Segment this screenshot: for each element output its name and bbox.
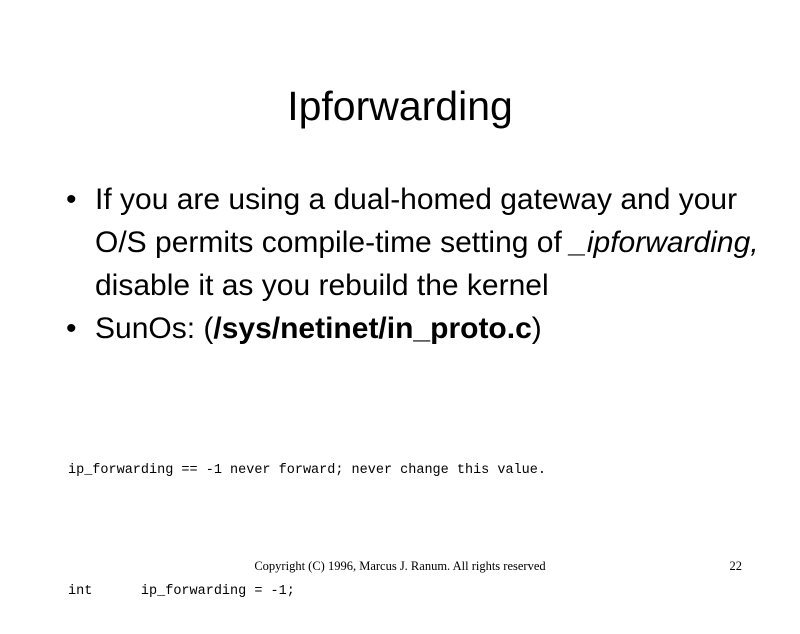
- code-line-2: int ip_forwarding = -1;: [68, 583, 748, 600]
- presentation-slide: Ipforwarding • If you are using a dual-h…: [0, 0, 800, 600]
- footer-copyright: Copyright (C) 1996, Marcus J. Ranum. All…: [0, 558, 800, 574]
- text-run: ): [532, 312, 542, 345]
- bullet-text: If you are using a dual-homed gateway an…: [95, 178, 760, 307]
- page-title: Ipforwarding: [0, 82, 800, 130]
- list-item: • If you are using a dual-homed gateway …: [60, 178, 760, 307]
- list-item: • SunOs: (/sys/netinet/in_proto.c): [60, 307, 760, 350]
- code-line-1: ip_forwarding == -1 never forward; never…: [68, 462, 748, 479]
- footer-page-number: 22: [730, 558, 743, 574]
- bullet-marker-icon: •: [66, 307, 77, 350]
- code-block: ip_forwarding == -1 never forward; never…: [68, 428, 748, 634]
- bullet-list: • If you are using a dual-homed gateway …: [60, 178, 760, 350]
- text-run-italic: _ipforwarding,: [570, 226, 758, 259]
- text-run: disable it as you rebuild the kernel: [95, 269, 549, 302]
- text-run-bold: /sys/netinet/in_proto.c: [213, 312, 531, 345]
- bullet-marker-icon: •: [66, 178, 77, 221]
- text-run: SunOs: (: [95, 312, 213, 345]
- bullet-text: SunOs: (/sys/netinet/in_proto.c): [95, 307, 760, 350]
- code-spacer: [68, 513, 748, 549]
